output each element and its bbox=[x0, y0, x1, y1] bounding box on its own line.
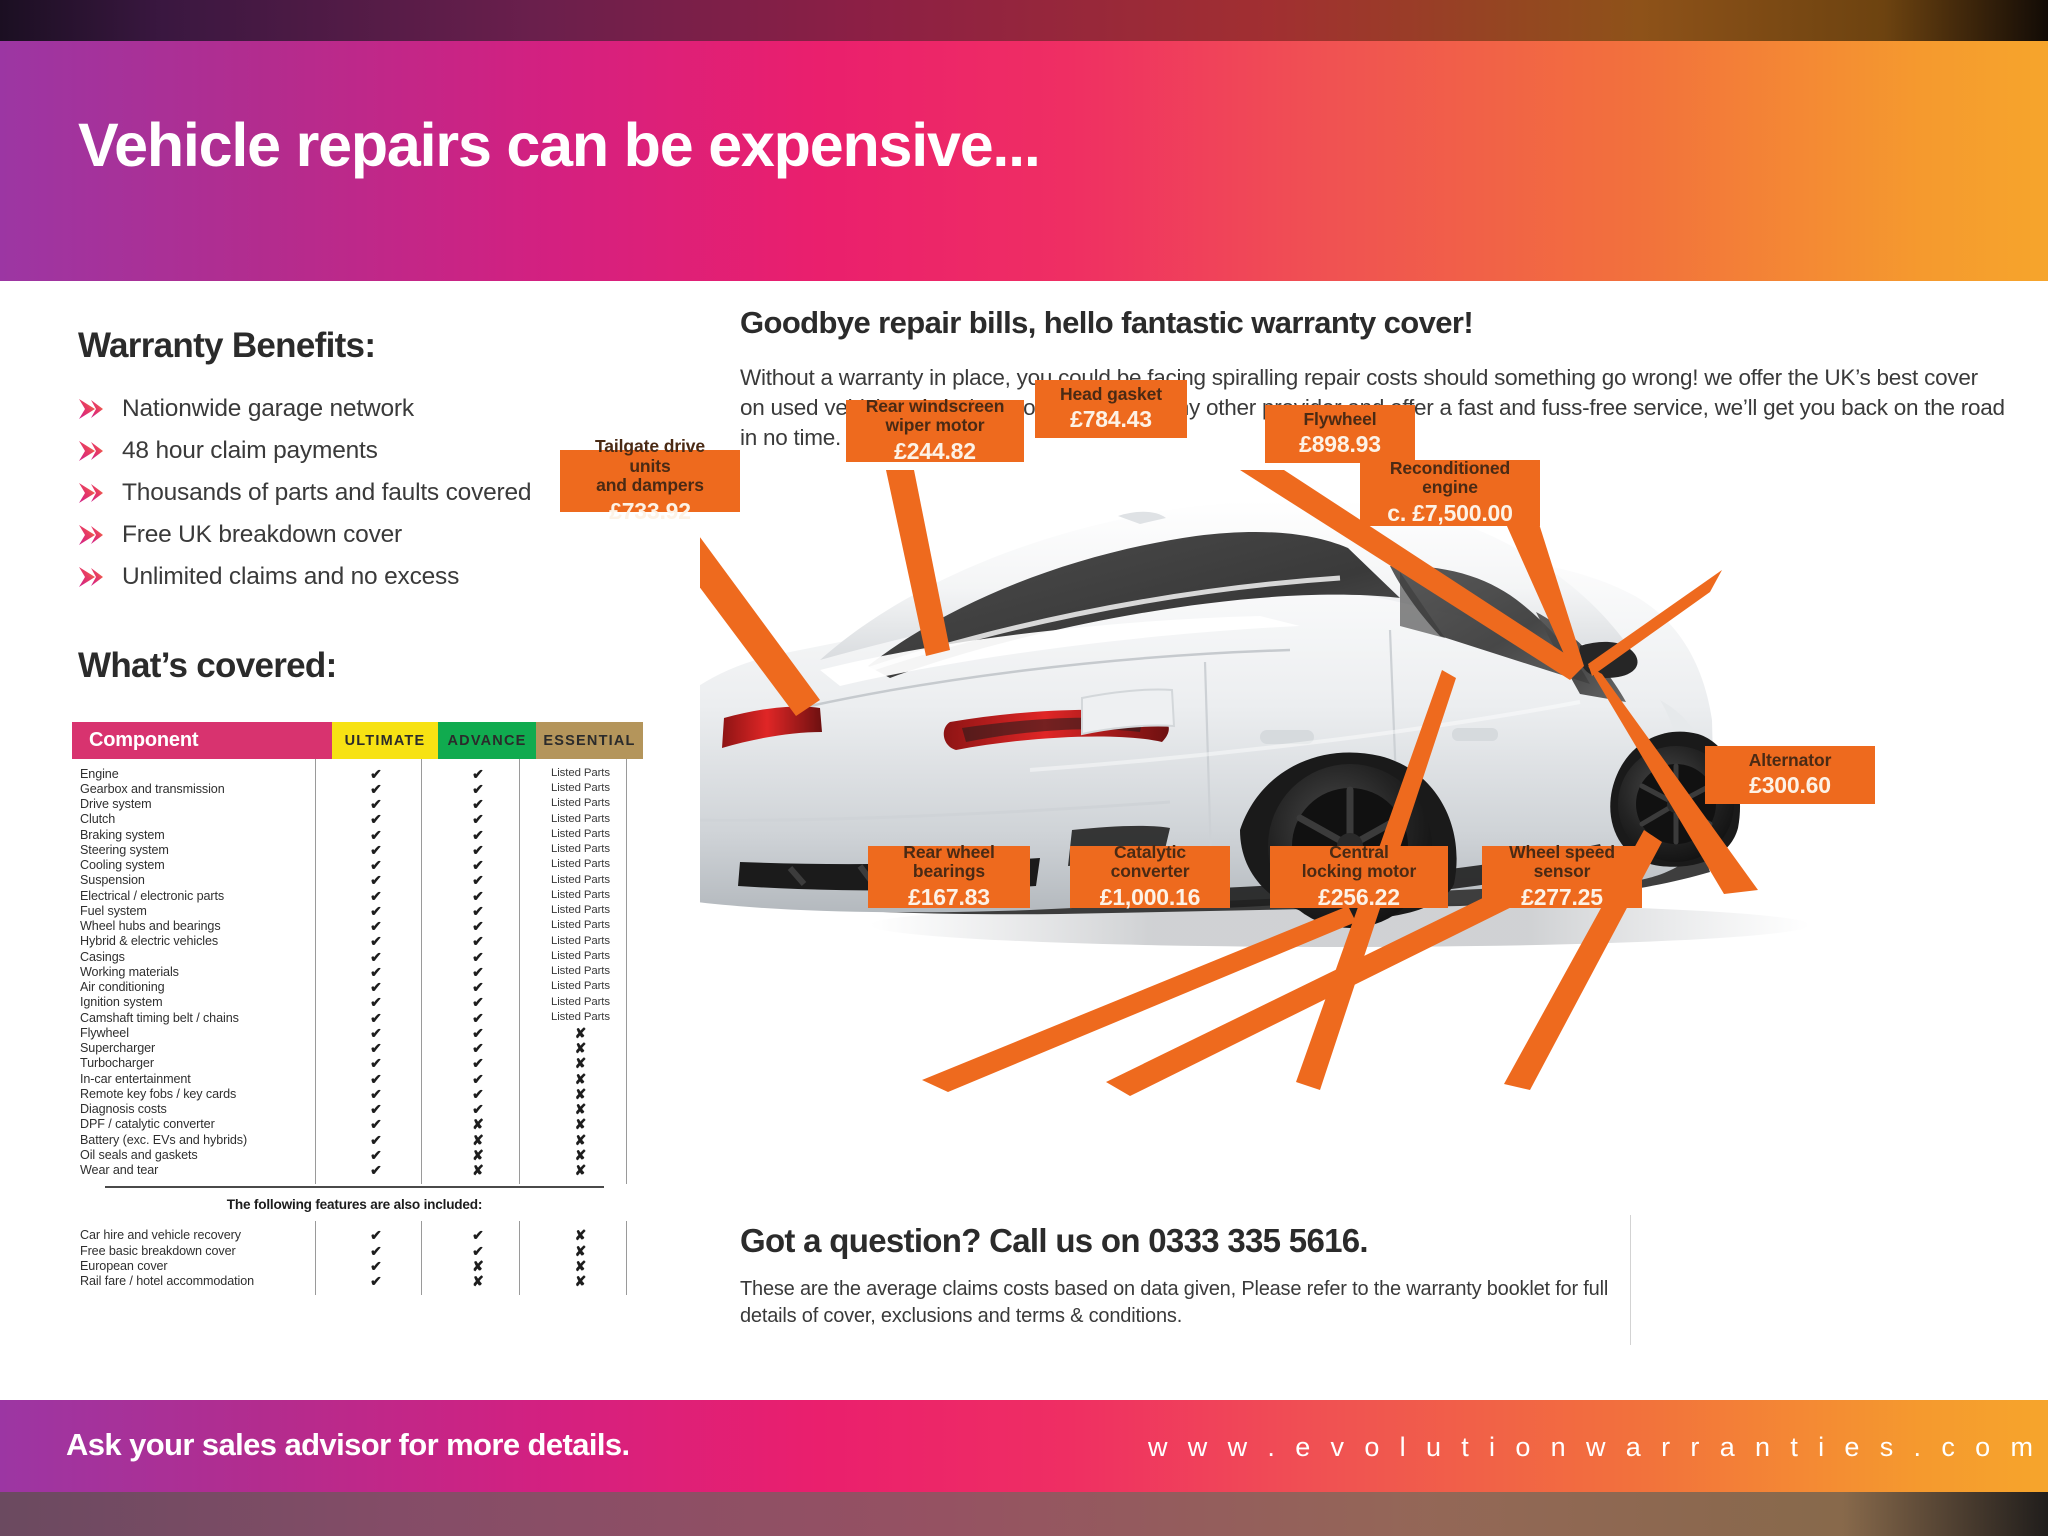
table-row: Engine✔✔Listed Parts bbox=[72, 766, 637, 781]
component-name: Rail fare / hotel accommodation bbox=[72, 1274, 323, 1288]
component-name: Cooling system bbox=[72, 858, 323, 872]
table-row: European cover✔✘✘ bbox=[72, 1258, 637, 1273]
cell-essential: ✘ bbox=[527, 1026, 634, 1040]
cell-advance: ✔ bbox=[429, 1102, 527, 1116]
cell-essential: ✘ bbox=[527, 1087, 634, 1101]
cell-ultimate: ✔ bbox=[323, 843, 429, 857]
cell-ultimate: ✔ bbox=[323, 812, 429, 826]
benefit-item: Unlimited claims and no excess bbox=[78, 556, 693, 598]
component-name: Drive system bbox=[72, 797, 323, 811]
chevron-right-icon bbox=[78, 566, 122, 588]
cell-ultimate: ✔ bbox=[323, 828, 429, 842]
cell-advance: ✔ bbox=[429, 1026, 527, 1040]
cell-ultimate: ✔ bbox=[323, 1102, 429, 1116]
component-name: Fuel system bbox=[72, 904, 323, 918]
callout-wiper: Rear windscreenwiper motor£244.82 bbox=[846, 400, 1024, 462]
callout-price: c. £7,500.00 bbox=[1387, 500, 1513, 527]
callout-label: Tailgate drive unitsand dampers bbox=[572, 437, 728, 496]
cell-essential: Listed Parts bbox=[527, 844, 634, 855]
cell-essential: Listed Parts bbox=[527, 905, 634, 916]
benefit-label: Nationwide garage network bbox=[122, 395, 414, 423]
component-name: Suspension bbox=[72, 873, 323, 887]
callout-price: £1,000.16 bbox=[1100, 884, 1201, 911]
callout-central: Centrallocking motor£256.22 bbox=[1270, 846, 1448, 908]
table-row: Clutch✔✔Listed Parts bbox=[72, 812, 637, 827]
callout-price: £300.60 bbox=[1749, 772, 1831, 799]
cell-essential: ✘ bbox=[527, 1228, 634, 1242]
cell-ultimate: ✔ bbox=[323, 873, 429, 887]
coverage-table: Component ULTIMATE ADVANCE ESSENTIAL Eng… bbox=[72, 722, 637, 1289]
component-name: Hybrid & electric vehicles bbox=[72, 934, 323, 948]
column-header-advance: ADVANCE bbox=[438, 722, 536, 759]
cell-ultimate: ✔ bbox=[323, 904, 429, 918]
column-header-ultimate: ULTIMATE bbox=[332, 722, 438, 759]
cell-essential: ✘ bbox=[527, 1117, 634, 1131]
cell-ultimate: ✔ bbox=[323, 797, 429, 811]
table-row: Ignition system✔✔Listed Parts bbox=[72, 995, 637, 1010]
table-row: Diagnosis costs✔✔✘ bbox=[72, 1102, 637, 1117]
cell-essential: Listed Parts bbox=[527, 829, 634, 840]
table-row: Oil seals and gaskets✔✘✘ bbox=[72, 1147, 637, 1162]
cell-essential: ✘ bbox=[527, 1163, 634, 1177]
benefit-label: Free UK breakdown cover bbox=[122, 521, 402, 549]
cell-essential: Listed Parts bbox=[527, 890, 634, 901]
table-row: Wheel hubs and bearings✔✔Listed Parts bbox=[72, 919, 637, 934]
column-header-component: Component bbox=[72, 722, 332, 759]
callout-alternator: Alternator£300.60 bbox=[1705, 746, 1875, 804]
component-name: Wear and tear bbox=[72, 1163, 323, 1177]
cell-essential: Listed Parts bbox=[527, 936, 634, 947]
callout-label: Head gasket bbox=[1060, 385, 1162, 405]
callout-wheelspeed: Wheel speedsensor£277.25 bbox=[1482, 846, 1642, 908]
cell-advance: ✔ bbox=[429, 828, 527, 842]
component-name: Engine bbox=[72, 767, 323, 781]
component-name: Supercharger bbox=[72, 1041, 323, 1055]
table-row: Flywheel✔✔✘ bbox=[72, 1025, 637, 1040]
cell-advance: ✔ bbox=[429, 1011, 527, 1025]
component-name: European cover bbox=[72, 1259, 323, 1273]
table-row: Supercharger✔✔✘ bbox=[72, 1041, 637, 1056]
extra-column-divider-3 bbox=[519, 1221, 520, 1295]
table-row: Braking system✔✔Listed Parts bbox=[72, 827, 637, 842]
cell-essential: ✘ bbox=[527, 1274, 634, 1288]
cell-essential: Listed Parts bbox=[527, 997, 634, 1008]
component-name: Electrical / electronic parts bbox=[72, 889, 323, 903]
table-row: DPF / catalytic converter✔✘✘ bbox=[72, 1117, 637, 1132]
callout-label: Flywheel bbox=[1303, 410, 1376, 430]
cell-ultimate: ✔ bbox=[323, 889, 429, 903]
component-name: Diagnosis costs bbox=[72, 1102, 323, 1116]
cell-advance: ✔ bbox=[429, 1087, 527, 1101]
callout-tailgate: Tailgate drive unitsand dampers£733.92 bbox=[560, 450, 740, 512]
table-row: Drive system✔✔Listed Parts bbox=[72, 797, 637, 812]
cell-ultimate: ✔ bbox=[323, 1041, 429, 1055]
cell-advance: ✔ bbox=[429, 858, 527, 872]
cell-ultimate: ✔ bbox=[323, 1259, 429, 1273]
footer-cta: Ask your sales advisor for more details. bbox=[66, 1427, 630, 1463]
benefit-item: Free UK breakdown cover bbox=[78, 514, 693, 556]
footer-website[interactable]: w w w . e v o l u t i o n w a r r a n t … bbox=[1148, 1432, 2039, 1463]
cell-advance: ✘ bbox=[429, 1117, 527, 1131]
column-header-essential: ESSENTIAL bbox=[536, 722, 643, 759]
component-name: Flywheel bbox=[72, 1026, 323, 1040]
cell-ultimate: ✔ bbox=[323, 934, 429, 948]
component-name: Casings bbox=[72, 950, 323, 964]
cell-advance: ✔ bbox=[429, 797, 527, 811]
component-name: Air conditioning bbox=[72, 980, 323, 994]
top-dark-strip bbox=[0, 0, 2048, 41]
callout-price: £244.82 bbox=[894, 438, 976, 465]
component-name: Oil seals and gaskets bbox=[72, 1148, 323, 1162]
callout-label: Centrallocking motor bbox=[1302, 843, 1416, 882]
cell-advance: ✘ bbox=[429, 1148, 527, 1162]
cell-ultimate: ✔ bbox=[323, 1148, 429, 1162]
chevron-right-icon bbox=[78, 524, 122, 546]
cell-ultimate: ✔ bbox=[323, 1163, 429, 1177]
extra-column-divider-2 bbox=[421, 1221, 422, 1295]
cell-advance: ✔ bbox=[429, 1228, 527, 1242]
chevron-right-icon bbox=[78, 398, 122, 420]
cell-advance: ✔ bbox=[429, 1244, 527, 1258]
component-name: Camshaft timing belt / chains bbox=[72, 1011, 323, 1025]
table-row: Wear and tear✔✘✘ bbox=[72, 1163, 637, 1178]
cell-ultimate: ✔ bbox=[323, 1117, 429, 1131]
callout-label: Wheel speedsensor bbox=[1509, 843, 1615, 882]
cell-ultimate: ✔ bbox=[323, 1133, 429, 1147]
cell-ultimate: ✔ bbox=[323, 919, 429, 933]
callout-label: Alternator bbox=[1749, 751, 1832, 771]
cell-ultimate: ✔ bbox=[323, 1244, 429, 1258]
right-heading: Goodbye repair bills, hello fantastic wa… bbox=[740, 305, 2005, 341]
table-row: Rail fare / hotel accommodation✔✘✘ bbox=[72, 1274, 637, 1289]
table-row: Air conditioning✔✔Listed Parts bbox=[72, 980, 637, 995]
claims-disclaimer: These are the average claims costs based… bbox=[740, 1276, 1640, 1329]
extra-column-divider-4 bbox=[626, 1221, 627, 1295]
table-row: Remote key fobs / key cards✔✔✘ bbox=[72, 1086, 637, 1101]
benefit-item: Nationwide garage network bbox=[78, 388, 693, 430]
cell-advance: ✔ bbox=[429, 950, 527, 964]
cell-essential: Listed Parts bbox=[527, 875, 634, 886]
cell-ultimate: ✔ bbox=[323, 858, 429, 872]
cell-essential: Listed Parts bbox=[527, 920, 634, 931]
cell-essential: ✘ bbox=[527, 1072, 634, 1086]
cell-advance: ✔ bbox=[429, 904, 527, 918]
cell-advance: ✔ bbox=[429, 767, 527, 781]
cell-ultimate: ✔ bbox=[323, 995, 429, 1009]
component-name: Battery (exc. EVs and hybrids) bbox=[72, 1133, 323, 1147]
also-included-label: The following features are also included… bbox=[72, 1188, 637, 1221]
callout-label: Catalyticconverter bbox=[1111, 843, 1190, 882]
table-row: Fuel system✔✔Listed Parts bbox=[72, 903, 637, 918]
cell-essential: Listed Parts bbox=[527, 966, 634, 977]
component-name: Turbocharger bbox=[72, 1056, 323, 1070]
component-name: DPF / catalytic converter bbox=[72, 1117, 323, 1131]
component-name: Clutch bbox=[72, 812, 323, 826]
cell-ultimate: ✔ bbox=[323, 1087, 429, 1101]
callout-price: £898.93 bbox=[1299, 431, 1381, 458]
component-name: Wheel hubs and bearings bbox=[72, 919, 323, 933]
component-name: Steering system bbox=[72, 843, 323, 857]
cell-advance: ✔ bbox=[429, 919, 527, 933]
cell-ultimate: ✔ bbox=[323, 767, 429, 781]
table-body: Engine✔✔Listed PartsGearbox and transmis… bbox=[72, 759, 637, 1178]
cell-advance: ✘ bbox=[429, 1259, 527, 1273]
table-row: Steering system✔✔Listed Parts bbox=[72, 842, 637, 857]
cell-ultimate: ✔ bbox=[323, 1011, 429, 1025]
table-row: Camshaft timing belt / chains✔✔Listed Pa… bbox=[72, 1010, 637, 1025]
cell-advance: ✘ bbox=[429, 1274, 527, 1288]
table-header-row: Component ULTIMATE ADVANCE ESSENTIAL bbox=[72, 722, 637, 759]
callout-price: £277.25 bbox=[1521, 884, 1603, 911]
callout-engine: Reconditionedenginec. £7,500.00 bbox=[1360, 460, 1540, 526]
cell-advance: ✔ bbox=[429, 980, 527, 994]
cell-advance: ✔ bbox=[429, 782, 527, 796]
table-row: Gearbox and transmission✔✔Listed Parts bbox=[72, 781, 637, 796]
callout-price: £733.92 bbox=[609, 498, 691, 525]
cell-ultimate: ✔ bbox=[323, 1274, 429, 1288]
component-name: Gearbox and transmission bbox=[72, 782, 323, 796]
callout-label: Rear windscreenwiper motor bbox=[866, 397, 1005, 436]
table-row: Suspension✔✔Listed Parts bbox=[72, 873, 637, 888]
cell-ultimate: ✔ bbox=[323, 950, 429, 964]
table-row: Cooling system✔✔Listed Parts bbox=[72, 858, 637, 873]
cell-essential: Listed Parts bbox=[527, 981, 634, 992]
cell-advance: ✔ bbox=[429, 873, 527, 887]
whats-covered-heading: What’s covered: bbox=[78, 646, 693, 686]
component-name: Working materials bbox=[72, 965, 323, 979]
column-divider-1 bbox=[315, 759, 316, 1184]
cell-advance: ✔ bbox=[429, 965, 527, 979]
table-row: Hybrid & electric vehicles✔✔Listed Parts bbox=[72, 934, 637, 949]
cell-advance: ✔ bbox=[429, 843, 527, 857]
cell-essential: ✘ bbox=[527, 1041, 634, 1055]
cell-essential: Listed Parts bbox=[527, 783, 634, 794]
cell-ultimate: ✔ bbox=[323, 1228, 429, 1242]
cell-essential: ✘ bbox=[527, 1133, 634, 1147]
cell-advance: ✔ bbox=[429, 1041, 527, 1055]
table-row: Working materials✔✔Listed Parts bbox=[72, 964, 637, 979]
component-name: Braking system bbox=[72, 828, 323, 842]
cell-ultimate: ✔ bbox=[323, 1026, 429, 1040]
table-row: Electrical / electronic parts✔✔Listed Pa… bbox=[72, 888, 637, 903]
callout-label: Reconditionedengine bbox=[1390, 459, 1510, 498]
warranty-benefits-heading: Warranty Benefits: bbox=[78, 326, 693, 366]
callout-price: £167.83 bbox=[908, 884, 990, 911]
callout-price: £784.43 bbox=[1070, 406, 1152, 433]
cell-ultimate: ✔ bbox=[323, 782, 429, 796]
component-name: Ignition system bbox=[72, 995, 323, 1009]
cell-ultimate: ✔ bbox=[323, 965, 429, 979]
callout-label: Rear wheelbearings bbox=[903, 843, 994, 882]
cell-ultimate: ✔ bbox=[323, 980, 429, 994]
cell-essential: ✘ bbox=[527, 1259, 634, 1273]
chevron-right-icon bbox=[78, 482, 122, 504]
extra-column-divider-1 bbox=[315, 1221, 316, 1295]
component-name: Remote key fobs / key cards bbox=[72, 1087, 323, 1101]
cell-advance: ✘ bbox=[429, 1133, 527, 1147]
cell-ultimate: ✔ bbox=[323, 1056, 429, 1070]
table-row: Casings✔✔Listed Parts bbox=[72, 949, 637, 964]
benefit-label: Unlimited claims and no excess bbox=[122, 563, 459, 591]
cell-advance: ✔ bbox=[429, 812, 527, 826]
callout-rearwheel: Rear wheelbearings£167.83 bbox=[868, 846, 1030, 908]
cell-advance: ✔ bbox=[429, 1056, 527, 1070]
cell-essential: ✘ bbox=[527, 1056, 634, 1070]
table-row: In-car entertainment✔✔✘ bbox=[72, 1071, 637, 1086]
cell-essential: ✘ bbox=[527, 1244, 634, 1258]
callout-flywheel: Flywheel£898.93 bbox=[1265, 405, 1415, 463]
table-row: Car hire and vehicle recovery✔✔✘ bbox=[72, 1228, 637, 1243]
cell-essential: ✘ bbox=[527, 1148, 634, 1162]
call-us-title: Got a question? Call us on 0333 335 5616… bbox=[740, 1222, 1640, 1260]
table-row: Turbocharger✔✔✘ bbox=[72, 1056, 637, 1071]
cell-ultimate: ✔ bbox=[323, 1072, 429, 1086]
cell-essential: Listed Parts bbox=[527, 951, 634, 962]
callout-price: £256.22 bbox=[1318, 884, 1400, 911]
cell-advance: ✔ bbox=[429, 995, 527, 1009]
vertical-separator bbox=[1630, 1215, 1631, 1345]
question-block: Got a question? Call us on 0333 335 5616… bbox=[740, 1222, 1640, 1329]
column-divider-3 bbox=[519, 759, 520, 1184]
column-divider-2 bbox=[421, 759, 422, 1184]
car-diagram: Tailgate drive unitsand dampers£733.92 R… bbox=[700, 470, 2048, 1230]
column-divider-4 bbox=[626, 759, 627, 1184]
bottom-dark-strip bbox=[0, 1492, 2048, 1536]
cell-essential: ✘ bbox=[527, 1102, 634, 1116]
callout-catalytic: Catalyticconverter£1,000.16 bbox=[1070, 846, 1230, 908]
cell-essential: Listed Parts bbox=[527, 798, 634, 809]
component-name: Free basic breakdown cover bbox=[72, 1244, 323, 1258]
page-title: Vehicle repairs can be expensive... bbox=[78, 110, 1040, 180]
chevron-right-icon bbox=[78, 440, 122, 462]
cell-advance: ✘ bbox=[429, 1163, 527, 1177]
cell-advance: ✔ bbox=[429, 934, 527, 948]
cell-advance: ✔ bbox=[429, 889, 527, 903]
benefit-label: 48 hour claim payments bbox=[122, 437, 378, 465]
component-name: In-car entertainment bbox=[72, 1072, 323, 1086]
table-row: Free basic breakdown cover✔✔✘ bbox=[72, 1243, 637, 1258]
cell-advance: ✔ bbox=[429, 1072, 527, 1086]
table-row: Battery (exc. EVs and hybrids)✔✘✘ bbox=[72, 1132, 637, 1147]
callout-headgasket: Head gasket£784.43 bbox=[1035, 380, 1187, 438]
left-column: Warranty Benefits: Nationwide garage net… bbox=[78, 326, 693, 708]
cell-essential: Listed Parts bbox=[527, 1012, 634, 1023]
benefit-label: Thousands of parts and faults covered bbox=[122, 479, 531, 507]
cell-essential: Listed Parts bbox=[527, 768, 634, 779]
table-extras-body: Car hire and vehicle recovery✔✔✘Free bas… bbox=[72, 1221, 637, 1289]
cell-essential: Listed Parts bbox=[527, 814, 634, 825]
component-name: Car hire and vehicle recovery bbox=[72, 1228, 323, 1242]
poster-page: Vehicle repairs can be expensive... Warr… bbox=[0, 0, 2048, 1536]
cell-essential: Listed Parts bbox=[527, 859, 634, 870]
